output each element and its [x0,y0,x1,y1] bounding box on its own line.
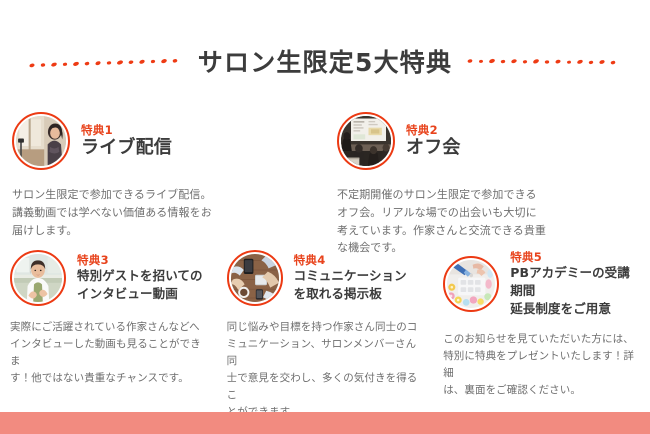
benefit-1-label: 特典1 [81,123,172,137]
photo-interview-woman [14,254,62,302]
benefit-4-body: 同じ悩みや目標を持つ作家さん同士のコ ミュニケーション、サロンメンバーさん同 士… [227,319,426,421]
benefit-2-name: オフ会 [406,137,461,159]
benefit-card-2: 特典2 オフ会 不定期開催のサロン生限定で参加できる オフ会。リアルな場での出会… [325,112,650,257]
benefit-card-1: 特典1 ライブ配信 サロン生限定で参加できるライブ配信。 講義動画では学べない価… [0,112,325,257]
benefit-2-label: 特典2 [406,123,461,137]
benefit-1-body: サロン生限定で参加できるライブ配信。 講義動画では学べない価値ある情報をお 届け… [12,186,305,239]
benefit-3-body: 実際にご活躍されている作家さんなどへ インタビューした動画も見ることができま す… [10,319,209,387]
page-heading: サロン生限定5大特典 [0,44,650,80]
bottom-accent-band [0,412,650,434]
photo-live-streaming-woman [16,116,66,166]
benefit-3-header: 特典3 特別ゲストを招いての インタビュー動画 [10,250,209,306]
benefit-5-photo-ring [443,256,499,312]
benefit-3-titles: 特典3 特別ゲストを招いての インタビュー動画 [77,253,203,303]
benefit-4-photo-ring [227,250,283,306]
benefit-card-4: 特典4 コミュニケーション を取れる掲示板 同じ悩みや目標を持つ作家さん同士のコ… [217,250,434,421]
page-title: サロン生限定5大特典 [198,50,452,75]
photo-resin-crafting [447,260,495,308]
benefit-3-photo-ring [10,250,66,306]
benefit-3-name: 特別ゲストを招いての インタビュー動画 [77,267,203,303]
benefit-1-header: 特典1 ライブ配信 [12,112,305,170]
benefits-row-top: 特典1 ライブ配信 サロン生限定で参加できるライブ配信。 講義動画では学べない価… [0,112,650,257]
benefit-2-header: 特典2 オフ会 [337,112,630,170]
benefit-1-name: ライブ配信 [81,137,172,159]
benefit-5-body: このお知らせを見ていただいた方には、 特別に特典をプレゼントいたします！詳細 は… [443,331,642,399]
benefit-card-5: 特典5 PBアカデミーの受講期間 延長制度をご用意 このお知らせを見ていただいた… [433,250,650,421]
benefit-4-name: コミュニケーション を取れる掲示板 [294,267,407,303]
benefit-5-name: PBアカデミーの受講期間 延長制度をご用意 [510,264,642,317]
benefit-2-body: 不定期開催のサロン生限定で参加できる オフ会。リアルな場での出会いも大切に 考え… [337,186,630,257]
benefit-5-titles: 特典5 PBアカデミーの受講期間 延長制度をご用意 [510,250,642,318]
benefit-4-header: 特典4 コミュニケーション を取れる掲示板 [227,250,426,306]
benefit-card-3: 特典3 特別ゲストを招いての インタビュー動画 実際にご活躍されている作家さんな… [0,250,217,421]
photo-seminar-room [341,116,391,166]
benefit-3-label: 特典3 [77,253,203,267]
dotted-line-right-icon [464,52,624,72]
benefit-2-photo-ring [337,112,395,170]
benefit-5-header: 特典5 PBアカデミーの受講期間 延長制度をご用意 [443,250,642,318]
dotted-line-left-icon [26,52,186,72]
benefit-5-label: 特典5 [510,250,642,264]
benefit-1-titles: 特典1 ライブ配信 [81,123,172,159]
benefit-1-photo-ring [12,112,70,170]
benefit-4-titles: 特典4 コミュニケーション を取れる掲示板 [294,253,407,303]
benefits-row-bottom: 特典3 特別ゲストを招いての インタビュー動画 実際にご活躍されている作家さんな… [0,250,650,421]
photo-desk-devices [231,254,279,302]
benefit-2-titles: 特典2 オフ会 [406,123,461,159]
benefit-4-label: 特典4 [294,253,407,267]
